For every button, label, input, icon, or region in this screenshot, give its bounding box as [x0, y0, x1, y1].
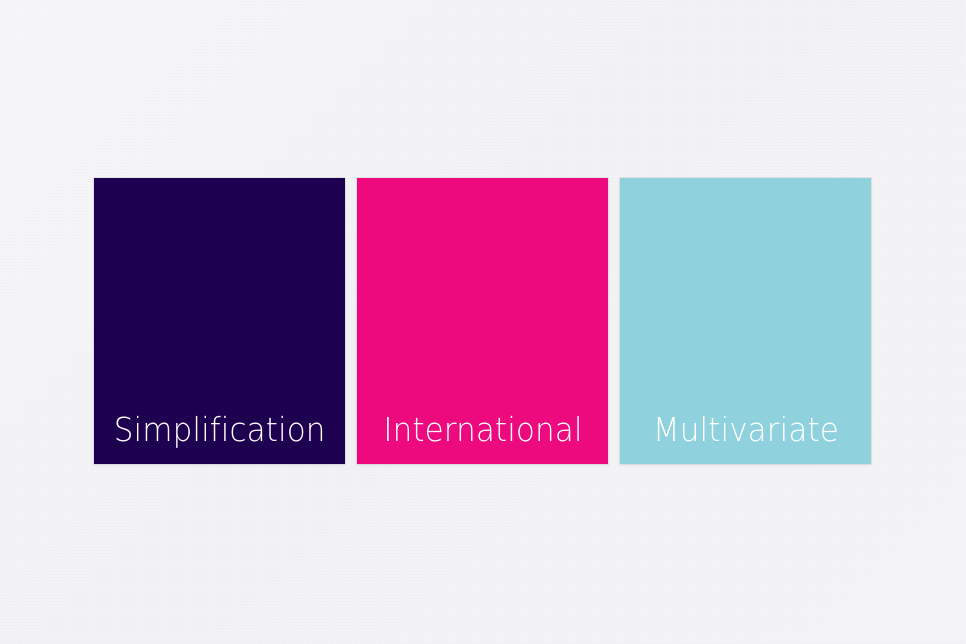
panel-multivariate[interactable]: Multivariate — [620, 178, 871, 464]
panel-label-international: International — [383, 413, 582, 446]
canvas: Simplification International Multivariat… — [0, 0, 966, 644]
panel-simplification[interactable]: Simplification — [94, 178, 345, 464]
panel-international[interactable]: International — [357, 178, 608, 464]
color-panel-row: Simplification International Multivariat… — [94, 178, 871, 464]
panel-label-multivariate: Multivariate — [653, 413, 839, 446]
panel-label-simplification: Simplification — [114, 413, 326, 446]
